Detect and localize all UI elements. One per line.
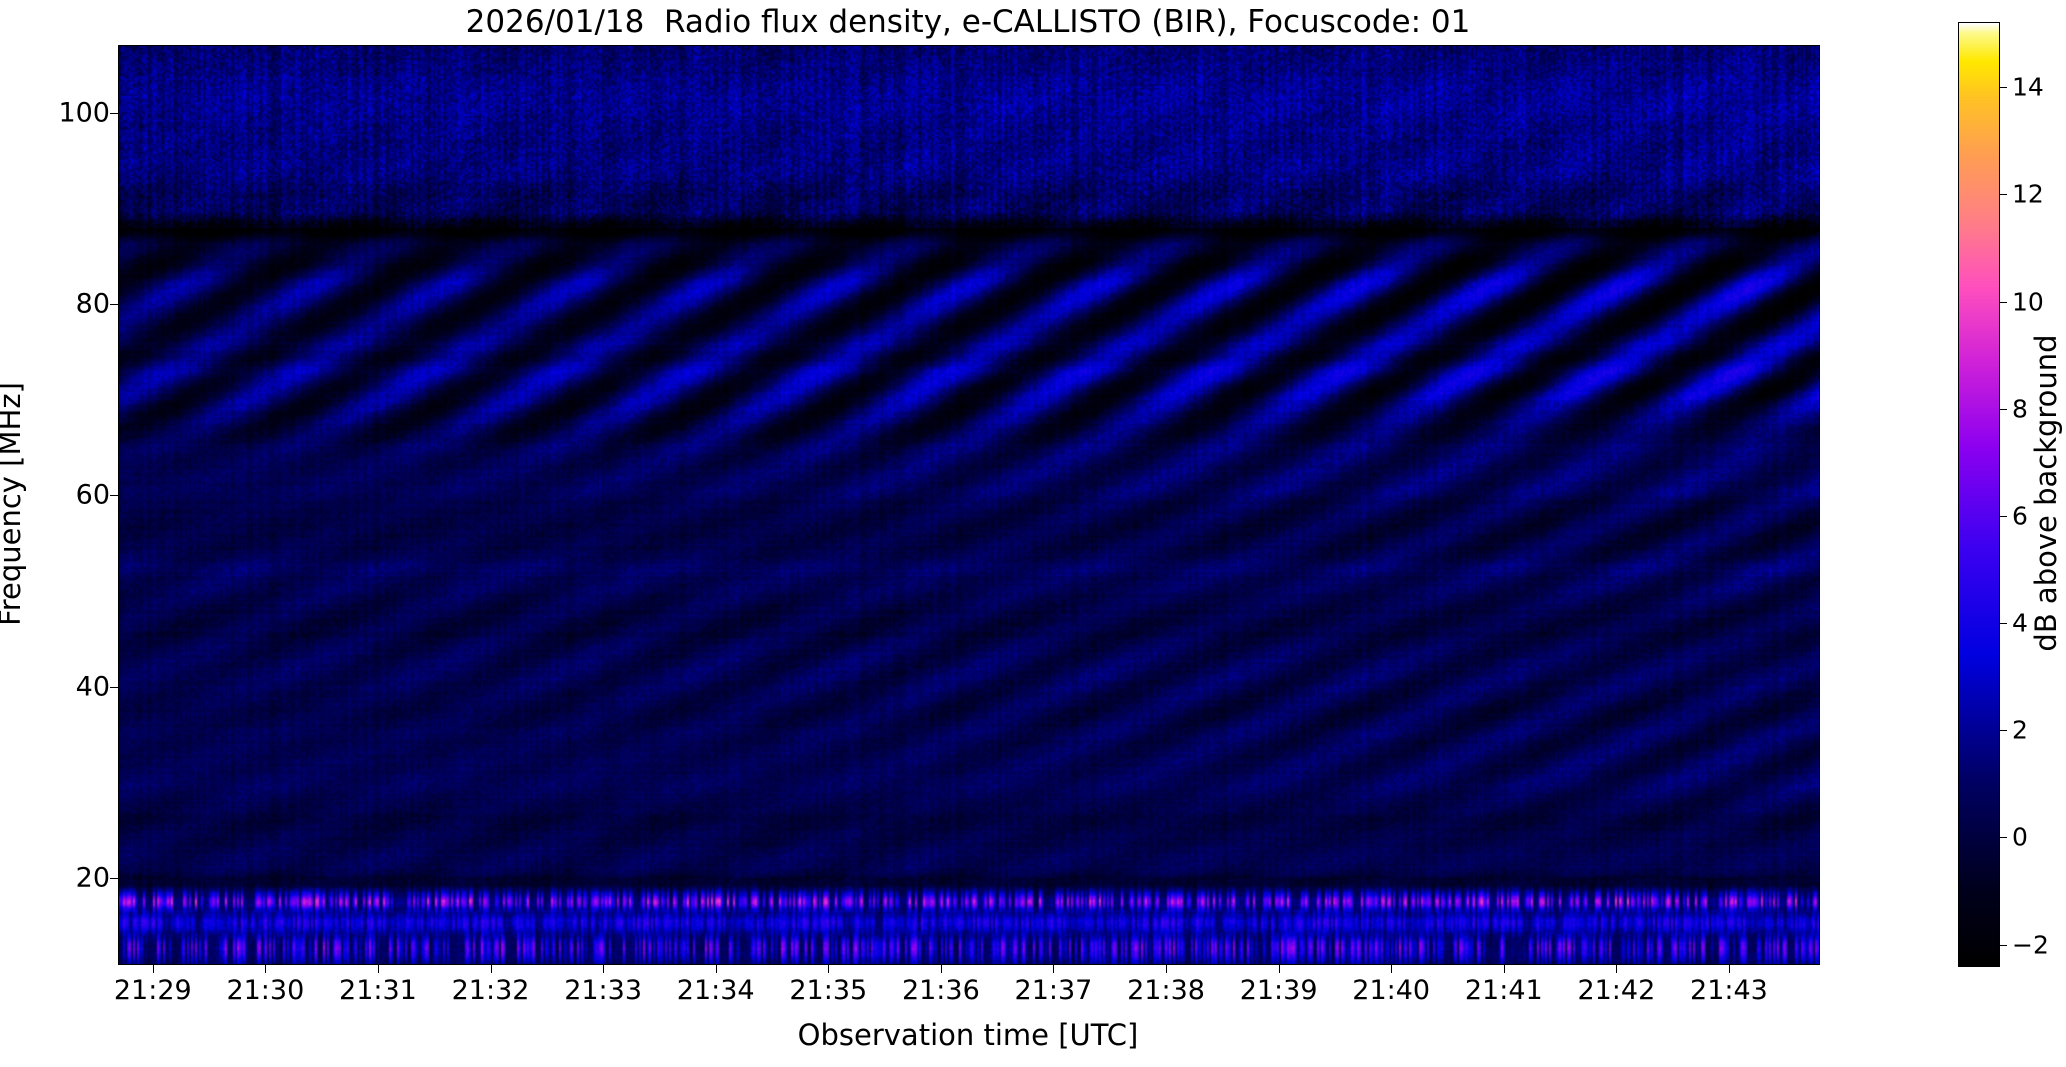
colorbar-tick-label: 0 — [2012, 825, 2028, 850]
x-tick-mark — [1166, 964, 1167, 973]
x-tick-label: 21:43 — [1690, 977, 1768, 1004]
x-tick-label: 21:37 — [1015, 977, 1093, 1004]
y-tick-mark — [110, 687, 119, 688]
spectrogram-image — [119, 46, 1819, 964]
x-tick-mark — [603, 964, 604, 973]
x-tick-label: 21:30 — [226, 977, 304, 1004]
x-tick-mark — [265, 964, 266, 973]
y-tick-mark — [110, 304, 119, 305]
colorbar-tick-label: 8 — [2012, 396, 2028, 421]
y-axis-label: Frequency [MHz] — [0, 382, 27, 626]
x-axis-label: Observation time [UTC] — [118, 1018, 1818, 1052]
x-tick-mark — [153, 964, 154, 973]
colorbar-tick-label: 6 — [2012, 503, 2028, 528]
colorbar-gradient — [1959, 23, 1999, 966]
x-tick-label: 21:42 — [1577, 977, 1655, 1004]
y-tick-label: 60 — [76, 482, 110, 509]
x-tick-mark — [1729, 964, 1730, 973]
y-tick-mark — [110, 113, 119, 114]
colorbar-tick-mark — [1999, 623, 2007, 624]
colorbar-tick-mark — [1999, 194, 2007, 195]
x-tick-label: 21:32 — [452, 977, 530, 1004]
spectrogram-axes[interactable]: 10080604020 21:2921:3021:3121:3221:3321:… — [118, 45, 1820, 965]
colorbar-tick-mark — [1999, 87, 2007, 88]
x-tick-mark — [1391, 964, 1392, 973]
colorbar-tick-label: 12 — [2012, 182, 2044, 207]
x-tick-mark — [378, 964, 379, 973]
x-tick-label: 21:31 — [339, 977, 417, 1004]
x-tick-mark — [1504, 964, 1505, 973]
colorbar-tick-label: 14 — [2012, 75, 2044, 100]
x-tick-mark — [1616, 964, 1617, 973]
x-tick-label: 21:41 — [1465, 977, 1543, 1004]
x-tick-mark — [491, 964, 492, 973]
colorbar-tick-mark — [1999, 945, 2007, 946]
colorbar-tick-mark — [1999, 409, 2007, 410]
y-tick-mark — [110, 878, 119, 879]
colorbar-tick-mark — [1999, 730, 2007, 731]
colorbar-tick-mark — [1999, 302, 2007, 303]
colorbar-tick-mark — [1999, 516, 2007, 517]
y-tick-label: 20 — [76, 864, 110, 891]
colorbar-tick-label: 2 — [2012, 718, 2028, 743]
x-tick-mark — [1279, 964, 1280, 973]
y-tick-label: 80 — [76, 291, 110, 318]
x-tick-label: 21:36 — [902, 977, 980, 1004]
colorbar-label: dB above background — [2029, 334, 2063, 651]
x-tick-label: 21:40 — [1352, 977, 1430, 1004]
x-tick-mark — [941, 964, 942, 973]
colorbar-tick-mark — [1999, 837, 2007, 838]
x-tick-label: 21:38 — [1127, 977, 1205, 1004]
x-tick-label: 21:39 — [1240, 977, 1318, 1004]
x-tick-label: 21:33 — [564, 977, 642, 1004]
y-tick-mark — [110, 495, 119, 496]
colorbar-axes[interactable]: 14121086420−2 — [1958, 22, 2000, 967]
colorbar-tick-label: 10 — [2012, 289, 2044, 314]
x-tick-mark — [1053, 964, 1054, 973]
colorbar-tick-label: −2 — [2012, 932, 2049, 957]
colorbar-tick-label: 4 — [2012, 611, 2028, 636]
x-tick-label: 21:35 — [789, 977, 867, 1004]
figure-canvas: 2026/01/18 Radio flux density, e-CALLIST… — [0, 0, 2066, 1067]
page-title: 2026/01/18 Radio flux density, e-CALLIST… — [118, 4, 1818, 40]
y-tick-label: 100 — [58, 99, 110, 126]
x-tick-label: 21:29 — [114, 977, 192, 1004]
x-tick-mark — [716, 964, 717, 973]
y-tick-label: 40 — [76, 673, 110, 700]
x-tick-mark — [828, 964, 829, 973]
x-tick-label: 21:34 — [677, 977, 755, 1004]
